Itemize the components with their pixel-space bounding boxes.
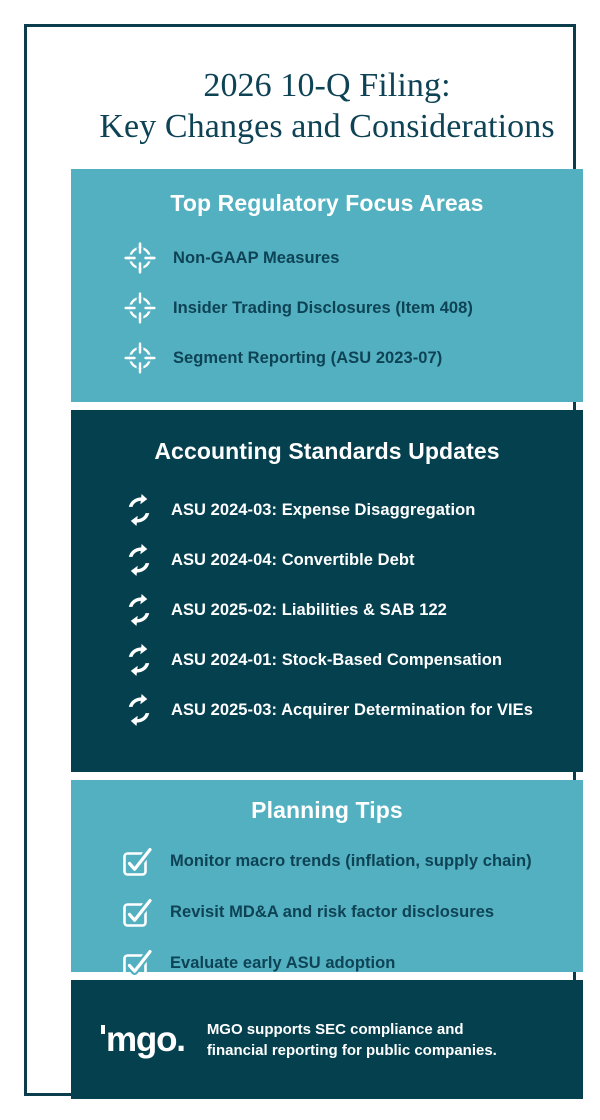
section-top-regulatory-focus-areas: Top Regulatory Focus Areas: [71, 169, 583, 402]
list-item-label: ASU 2024-03: Expense Disaggregation: [171, 501, 475, 520]
section-heading: Accounting Standards Updates: [71, 438, 583, 465]
list-item-label: Segment Reporting (ASU 2023-07): [173, 349, 442, 368]
list-item-label: Insider Trading Disclosures (Item 408): [173, 299, 473, 318]
list-item-label: Evaluate early ASU adoption: [170, 954, 395, 973]
section-accounting-standards-updates: Accounting Standards Updates ASU 2024-03…: [71, 410, 583, 772]
logo-tick-mark: [101, 1025, 105, 1034]
list-item-label: ASU 2024-01: Stock-Based Compensation: [171, 651, 502, 670]
checkbox-checked-icon: [121, 846, 153, 878]
list-item-label: Monitor macro trends (inflation, supply …: [170, 852, 532, 871]
list-item[interactable]: Non-GAAP Measures: [71, 233, 583, 283]
list-item[interactable]: Insider Trading Disclosures (Item 408): [71, 283, 583, 333]
checkbox-checked-icon: [121, 948, 153, 980]
list-item-label: Revisit MD&A and risk factor disclosures: [170, 903, 494, 922]
refresh-cycle-icon: [123, 544, 155, 576]
outer-frame: 2026 10-Q Filing: Key Changes and Consid…: [24, 24, 576, 1096]
crosshair-target-icon: [123, 241, 157, 275]
list-item-label: ASU 2025-02: Liabilities & SAB 122: [171, 601, 447, 620]
section-heading: Planning Tips: [71, 797, 583, 824]
list-item[interactable]: Revisit MD&A and risk factor disclosures: [71, 887, 583, 938]
section-heading: Top Regulatory Focus Areas: [71, 190, 583, 217]
list-item[interactable]: Segment Reporting (ASU 2023-07): [71, 333, 583, 383]
page-title: 2026 10-Q Filing: Key Changes and Consid…: [71, 65, 583, 147]
logo-wordmark: mgo.: [106, 1023, 185, 1057]
list-item[interactable]: ASU 2024-04: Convertible Debt: [71, 535, 583, 585]
list-item[interactable]: ASU 2025-02: Liabilities & SAB 122: [71, 585, 583, 635]
checkbox-checked-icon: [121, 897, 153, 929]
section-planning-tips: Planning Tips Monitor macro trends (infl…: [71, 780, 583, 972]
list-item[interactable]: ASU 2024-03: Expense Disaggregation: [71, 485, 583, 535]
crosshair-target-icon: [123, 291, 157, 325]
footer-bar: mgo. MGO supports SEC compliance and fin…: [71, 980, 583, 1099]
planning-tips-list: Monitor macro trends (inflation, supply …: [71, 836, 583, 989]
list-item[interactable]: ASU 2024-01: Stock-Based Compensation: [71, 635, 583, 685]
list-item-label: ASU 2025-03: Acquirer Determination for …: [171, 701, 533, 720]
refresh-cycle-icon: [123, 694, 155, 726]
list-item-label: Non-GAAP Measures: [173, 249, 340, 268]
asu-list: ASU 2024-03: Expense Disaggregation ASU …: [71, 485, 583, 735]
mgo-logo: mgo.: [101, 1023, 185, 1057]
footer-tagline: MGO supports SEC compliance and financia…: [207, 1019, 497, 1061]
title-line-2: Key Changes and Considerations: [71, 106, 583, 147]
refresh-cycle-icon: [123, 594, 155, 626]
focus-areas-list: Non-GAAP Measures: [71, 233, 583, 383]
footer-tagline-line-1: MGO supports SEC compliance and: [207, 1019, 497, 1040]
list-item-label: ASU 2024-04: Convertible Debt: [171, 551, 415, 570]
footer-tagline-line-2: financial reporting for public companies…: [207, 1040, 497, 1061]
list-item[interactable]: Monitor macro trends (inflation, supply …: [71, 836, 583, 887]
crosshair-target-icon: [123, 341, 157, 375]
title-line-1: 2026 10-Q Filing:: [71, 65, 583, 106]
list-item[interactable]: ASU 2025-03: Acquirer Determination for …: [71, 685, 583, 735]
refresh-cycle-icon: [123, 644, 155, 676]
infographic-canvas: 2026 10-Q Filing: Key Changes and Consid…: [0, 0, 600, 1120]
refresh-cycle-icon: [123, 494, 155, 526]
